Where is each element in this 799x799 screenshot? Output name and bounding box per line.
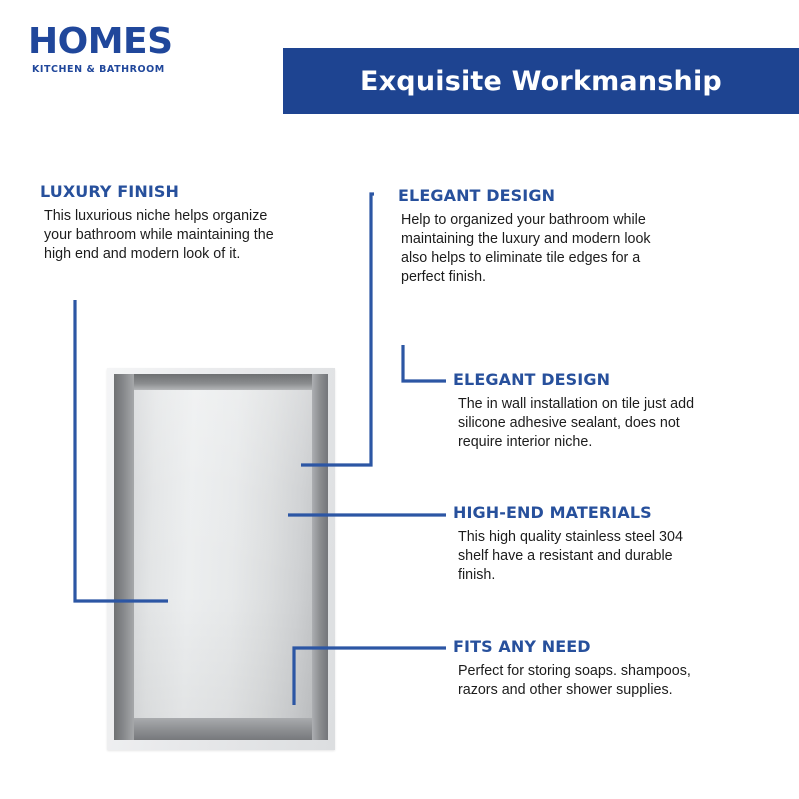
callout-body: This luxurious niche helps organize your… [40,207,340,264]
headline-banner: Exquisite Workmanship [283,48,799,114]
brand-name: HOMES [28,24,288,60]
callout-body: Help to organized your bathroom while ma… [398,211,708,286]
callout-high-end-materials: HIGH-END MATERIALS This high quality sta… [453,503,753,585]
callout-body: The in wall installation on tile just ad… [453,395,753,452]
callout-title: LUXURY FINISH [40,182,340,201]
callout-elegant-design-2: ELEGANT DESIGN The in wall installation … [453,370,753,452]
product-image-shower-niche [107,368,335,750]
callout-body: Perfect for storing soaps. shampoos, raz… [453,662,753,700]
infographic-page: HOMES KITCHEN & BATHROOM Exquisite Workm… [0,0,799,799]
callout-title: ELEGANT DESIGN [453,370,753,389]
niche-inner-wall-top [114,374,328,390]
niche-opening [114,374,328,740]
brand-tagline: KITCHEN & BATHROOM [32,65,288,75]
niche-back-panel [134,390,312,718]
niche-inner-wall-left [114,374,134,740]
niche-inner-wall-bottom [114,718,328,740]
callout-title: ELEGANT DESIGN [398,186,708,205]
callout-body: This high quality stainless steel 304 sh… [453,528,753,585]
callout-luxury-finish: LUXURY FINISH This luxurious niche helps… [40,182,340,264]
callout-fits-any-need: FITS ANY NEED Perfect for storing soaps.… [453,637,753,700]
callout-elegant-design-1: ELEGANT DESIGN Help to organized your ba… [398,186,708,286]
connector-elegant-design-2 [403,345,446,381]
callout-title: HIGH-END MATERIALS [453,503,753,522]
niche-inner-wall-right [312,374,328,740]
headline-title: Exquisite Workmanship [360,66,722,97]
callout-title: FITS ANY NEED [453,637,753,656]
brand-logo: HOMES KITCHEN & BATHROOM [28,24,288,75]
